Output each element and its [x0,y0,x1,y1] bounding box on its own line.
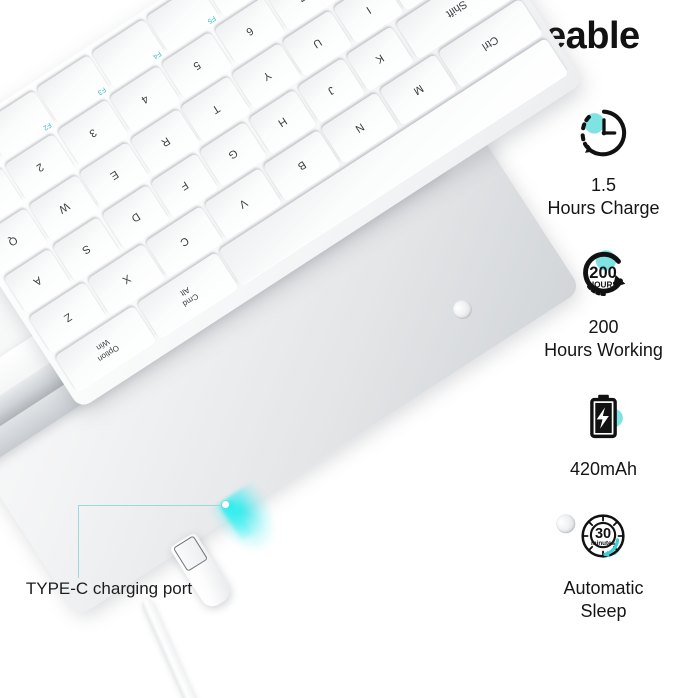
key-label: Z [62,311,74,325]
key-label: Shift [444,0,469,20]
icon-text-secondary: minutes [590,540,615,547]
key-label: K [374,52,387,66]
key-label: S [80,242,93,256]
key-label: CmdAlt [175,283,200,309]
feature-item-auto-sleep: 30 minutes Automatic Sleep [528,499,679,623]
key-fn-label: F5 [206,14,217,24]
usb-c-cable-icon [140,598,203,698]
feature-item-capacity: 420mAh [528,380,679,481]
key-label: Q [6,234,20,249]
battery-charging-icon [567,380,641,454]
product-feature-graphic: TYPE-C Rechargeable F1F2F3F4F5F6F7F8Esc1… [0,0,679,698]
key-label: R [159,135,172,149]
circle-marker-icon [221,500,230,509]
key-label: Ctrl [480,33,501,52]
feature-label: 200 Hours Working [544,316,663,362]
key-label: T [210,102,222,116]
callout-leader-horizontal [78,505,225,506]
key-label: 2 [35,161,47,174]
key-label: V [237,197,250,211]
key-label: 5 [191,59,203,72]
icon-text-primary: 200 [589,264,616,282]
key-label: 4 [139,93,151,106]
key-label: E [108,168,121,182]
key-label: I [364,4,373,16]
callout-label: TYPE-C charging port [14,578,204,600]
key-label: F [178,179,190,193]
key-label: J [326,84,337,97]
feature-label: 1.5 Hours Charge [547,174,659,220]
key-label: W [56,200,71,216]
icon-text-secondary: HOURS [588,281,618,290]
key-label: G [226,147,240,162]
key-label: A [31,274,44,288]
key-label: C [178,234,191,248]
key-label: U [311,36,324,50]
rubber-foot [449,296,475,322]
key-label: D [129,210,142,224]
key-label: 6 [244,25,256,38]
feature-label: 420mAh [570,458,637,481]
key-label: M [411,82,425,97]
key-label: H [276,115,289,129]
key-fn-label: F4 [151,50,162,60]
key-label: 7 [296,0,308,4]
key-fn-label: F2 [41,121,52,131]
key-label: OptionWin [90,334,121,364]
key-label: N [353,121,366,135]
key-fn-label: F3 [96,85,107,95]
feature-item-working-time: 200 HOURS 200 Hours Working [528,238,679,362]
timer-30-minutes-icon: 30 minutes [567,499,641,573]
clock-dashed-icon [567,96,641,170]
key-label: Y [260,69,273,83]
key-label: B [295,159,308,173]
feature-item-charge-time: 1.5 Hours Charge [528,96,679,220]
key-label: X [120,273,133,287]
circular-arrow-200-hours-icon: 200 HOURS [567,238,641,312]
callout-leader-vertical [78,505,79,578]
feature-label: Automatic Sleep [563,577,643,623]
key-label: 3 [87,127,99,140]
feature-list: 1.5 Hours Charge 200 HOURS 200 Hours Wor… [528,96,679,641]
